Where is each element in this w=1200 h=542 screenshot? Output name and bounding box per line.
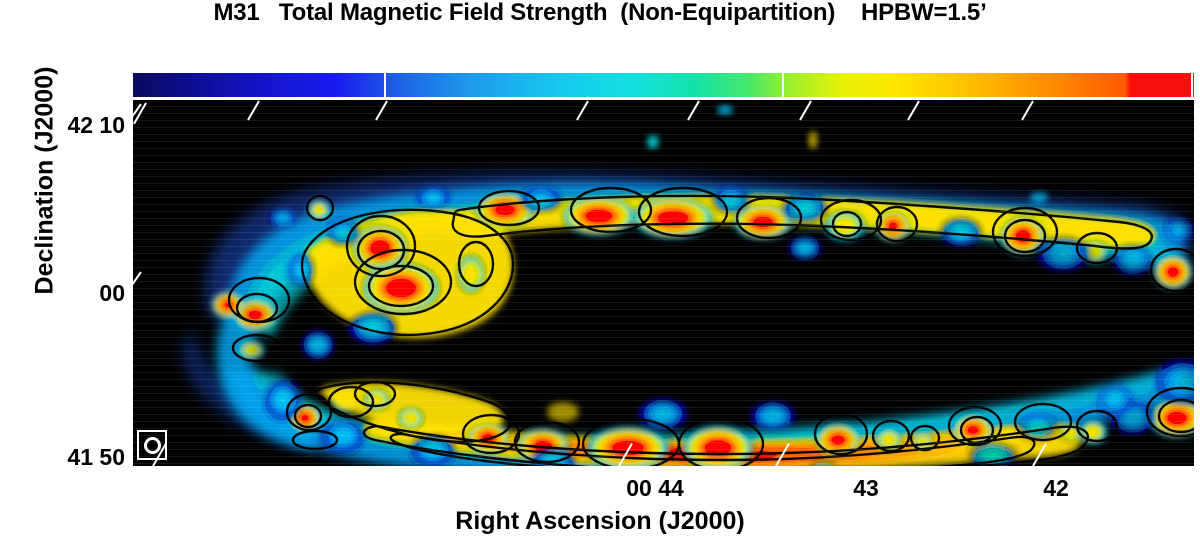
x-tick-label-42: 42 xyxy=(1043,475,1069,502)
colorbar-tick-8 xyxy=(782,73,784,97)
colorbar-tick-6 xyxy=(384,73,386,97)
colorbar-gradient xyxy=(133,73,1194,97)
y-axis-title: Declination (J2000) xyxy=(31,31,60,331)
colorbar-tick-10 xyxy=(1191,73,1193,97)
magnetic-field-map xyxy=(133,100,1194,466)
x-axis-title: Right Ascension (J2000) xyxy=(0,507,1200,536)
map-panel xyxy=(133,100,1194,466)
colorbar: 6 8 MicroGauss 10 xyxy=(133,73,1194,97)
x-tick-label-43: 43 xyxy=(853,475,879,502)
y-tick-label-41-50: 41 50 xyxy=(20,444,125,471)
beam-ellipse xyxy=(144,437,161,454)
figure-root: M31 Total Magnetic Field Strength (Non-E… xyxy=(0,0,1200,542)
x-tick-label-0044: 00 44 xyxy=(626,475,684,502)
figure-title: M31 Total Magnetic Field Strength (Non-E… xyxy=(0,0,1200,27)
